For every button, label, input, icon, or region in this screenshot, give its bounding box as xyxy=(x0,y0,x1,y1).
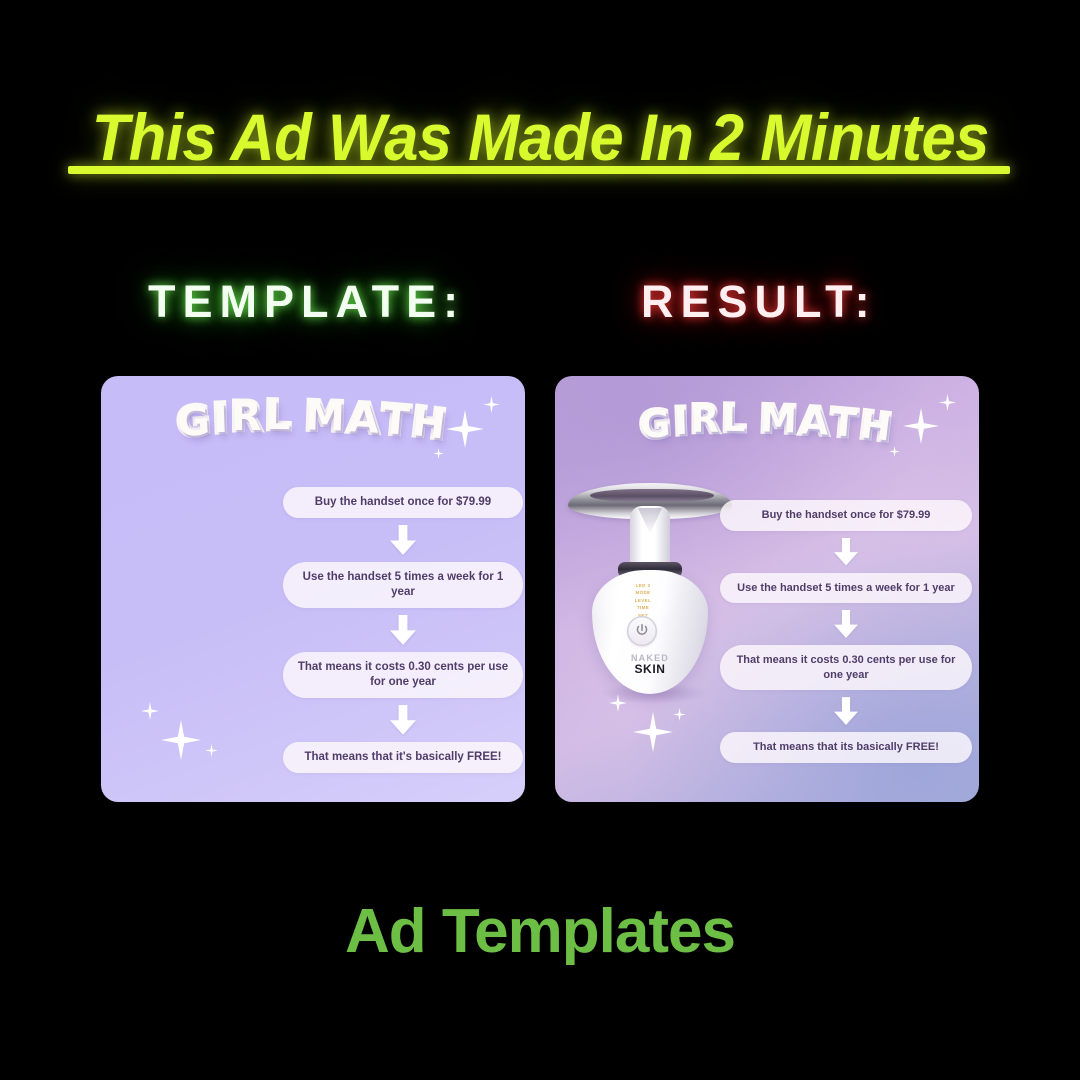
sparkle-icon xyxy=(889,446,900,457)
sparkle-icon xyxy=(205,744,218,757)
led-label: MODE xyxy=(624,589,662,596)
sparkle-icon xyxy=(633,712,673,752)
brand-line-2: SKIN xyxy=(608,663,692,676)
sparkle-icon xyxy=(446,410,484,448)
caption-result: RESULT: xyxy=(641,276,877,328)
power-button[interactable] xyxy=(627,616,657,646)
flow-step-pill[interactable]: Use the handset 5 times a week for 1 yea… xyxy=(720,573,972,604)
flow-step-pill[interactable]: That means it costs 0.30 cents per use f… xyxy=(283,652,523,698)
power-icon xyxy=(634,623,650,639)
led-label: LED 3 xyxy=(624,582,662,589)
footer-label: Ad Templates xyxy=(0,896,1080,967)
flow-step-pill[interactable]: Buy the handset once for $79.99 xyxy=(283,487,523,518)
caption-template: TEMPLATE: xyxy=(148,276,465,328)
device-brand: NAKED SKIN xyxy=(608,654,692,676)
flow-step-pill[interactable]: Use the handset 5 times a week for 1 yea… xyxy=(283,562,523,608)
result-flow-list: Buy the handset once for $79.99 Use the … xyxy=(720,500,972,763)
headline-container: This Ad Was Made In 2 Minutes xyxy=(0,104,1080,170)
flow-step-pill[interactable]: That means that it's basically FREE! xyxy=(283,742,523,773)
sparkle-icon xyxy=(903,408,939,444)
page-title: This Ad Was Made In 2 Minutes xyxy=(91,104,988,170)
flow-step-pill[interactable]: That means it costs 0.30 cents per use f… xyxy=(720,645,972,690)
down-arrow-icon xyxy=(390,525,416,555)
led-label: TIME xyxy=(624,604,662,611)
down-arrow-icon xyxy=(834,697,858,725)
sparkle-icon xyxy=(141,702,159,720)
flow-step-pill[interactable]: That means that its basically FREE! xyxy=(720,732,972,763)
sparkle-icon xyxy=(433,448,444,459)
neck-lifting-device-image: LED 3 MODE LEVEL TIME SET NAKED SKIN xyxy=(562,478,738,696)
led-label: LEVEL xyxy=(624,597,662,604)
headline-underline xyxy=(68,166,1010,174)
device-led-labels: LED 3 MODE LEVEL TIME SET xyxy=(624,582,662,619)
down-arrow-icon xyxy=(390,705,416,735)
flow-step-pill[interactable]: Buy the handset once for $79.99 xyxy=(720,500,972,531)
down-arrow-icon xyxy=(834,610,858,638)
sparkle-icon xyxy=(483,396,500,413)
template-flow-list: Buy the handset once for $79.99 Use the … xyxy=(283,487,523,773)
device-head-groove xyxy=(590,489,714,502)
down-arrow-icon xyxy=(390,615,416,645)
sparkle-icon xyxy=(939,394,956,411)
sparkle-icon xyxy=(161,720,201,760)
down-arrow-icon xyxy=(834,538,858,566)
ad-comparison-graphic: This Ad Was Made In 2 Minutes TEMPLATE: … xyxy=(0,0,1080,1080)
sparkle-icon xyxy=(673,708,686,721)
